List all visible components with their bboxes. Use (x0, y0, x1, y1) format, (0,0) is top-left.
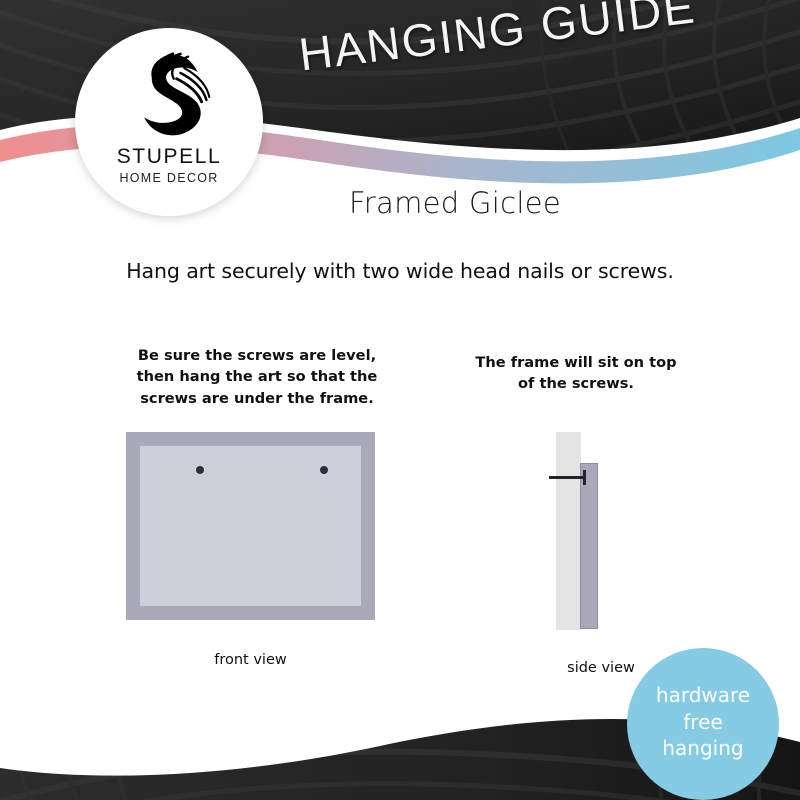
front-view-artwork-area (140, 446, 361, 606)
front-view-note-line-2: then hang the art so that the (122, 366, 392, 387)
screw-dot-left-icon (196, 466, 204, 474)
side-view-wall (556, 432, 581, 630)
front-view-note: Be sure the screws are level, then hang … (122, 345, 392, 409)
badge-line-1: hardware (656, 682, 750, 709)
page-title: HANGING GUIDE (296, 0, 699, 82)
brand-name: STUPELL (117, 146, 222, 167)
screw-shaft-icon (549, 476, 586, 479)
hardware-free-hanging-text: hardware free hanging (656, 682, 750, 766)
side-view-note-line-2: of the screws. (462, 373, 690, 394)
screw-dot-right-icon (320, 466, 328, 474)
badge-line-3: hanging (656, 735, 750, 762)
brand-tagline: HOME DECOR (119, 172, 218, 185)
front-view-note-line-1: Be sure the screws are level, (122, 345, 392, 366)
side-view-note: The frame will sit on top of the screws. (462, 352, 690, 395)
hanging-guide-page: STUPELL HOME DECOR HANGING GUIDE Framed … (0, 0, 800, 800)
side-view-diagram (556, 432, 646, 630)
hardware-free-hanging-badge: hardware free hanging (627, 648, 779, 800)
screw-head-icon (583, 470, 586, 485)
badge-line-2: free (656, 709, 750, 736)
product-type-title: Framed Giclee (0, 186, 800, 220)
stupell-swoosh-logo-icon (121, 50, 217, 142)
front-view-note-line-3: screws are under the frame. (122, 388, 392, 409)
side-view-frame (580, 463, 598, 629)
front-view-diagram (126, 432, 375, 620)
lead-instruction: Hang art securely with two wide head nai… (0, 259, 800, 283)
side-view-note-line-1: The frame will sit on top (462, 352, 690, 373)
front-view-caption: front view (126, 652, 375, 668)
